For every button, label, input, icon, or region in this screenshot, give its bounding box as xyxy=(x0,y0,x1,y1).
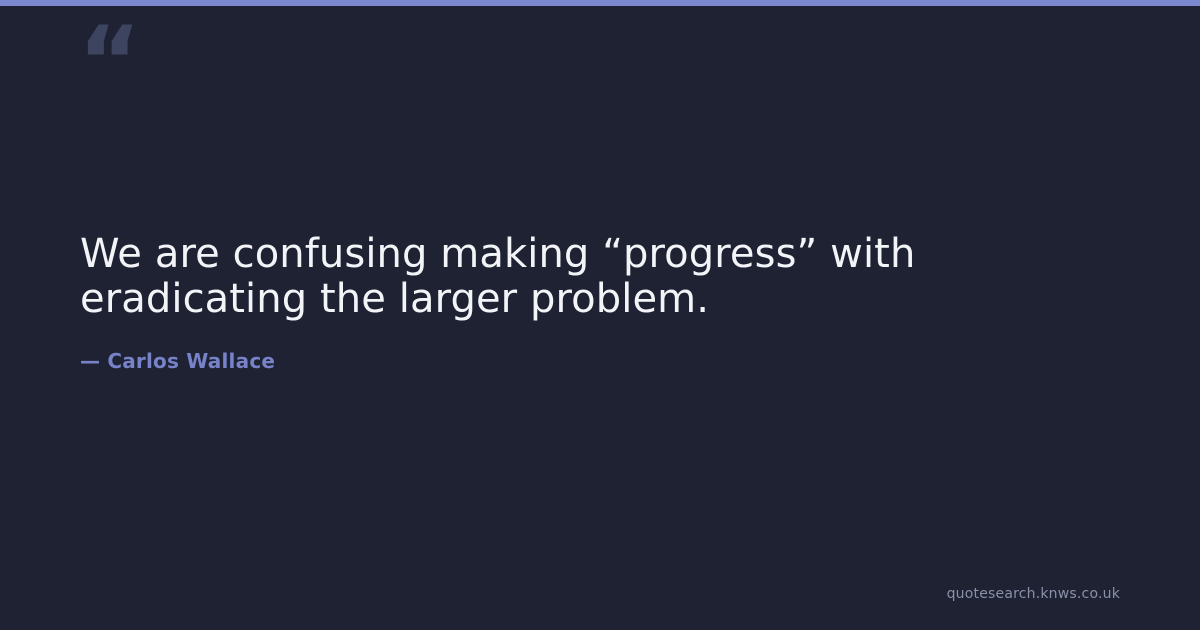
open-quote-icon: “ xyxy=(78,14,139,110)
quote-content: We are confusing making “progress” with … xyxy=(80,232,1110,373)
quote-card: “ We are confusing making “progress” wit… xyxy=(0,0,1200,630)
top-accent-bar xyxy=(0,0,1200,6)
quote-author: — Carlos Wallace xyxy=(80,349,1110,373)
source-site-label: quotesearch.knws.co.uk xyxy=(947,586,1120,602)
quote-text: We are confusing making “progress” with … xyxy=(80,232,1110,322)
